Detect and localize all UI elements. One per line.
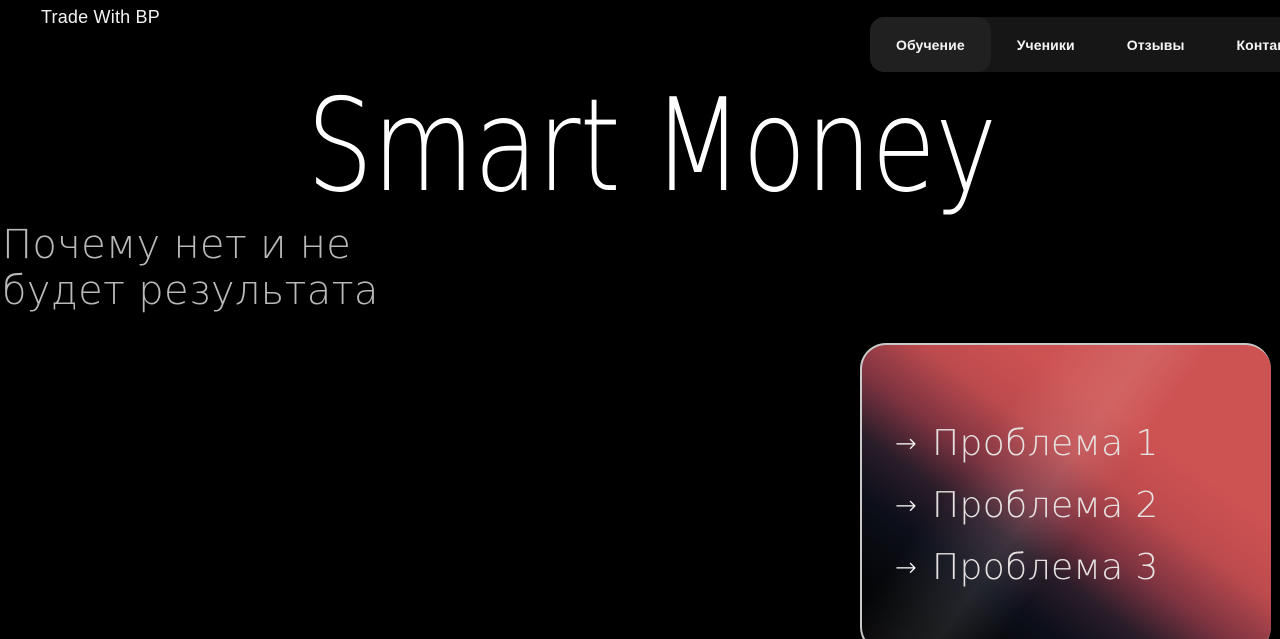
problem-item-2[interactable]: → Проблема 2 (895, 475, 1235, 537)
nav-item-kontakty[interactable]: Контакты (1211, 17, 1280, 72)
problem-card: → Проблема 1 → Проблема 2 → Проблема 3 (860, 343, 1271, 639)
problem-item-label: Проблема 3 (932, 548, 1159, 588)
problem-item-label: Проблема 2 (932, 486, 1159, 526)
nav-item-otzyvy[interactable]: Отзывы (1101, 17, 1211, 72)
brand-logo[interactable]: Trade With BP (41, 6, 160, 28)
arrow-right-icon: → (895, 431, 932, 457)
hero-subtitle-line-1: Почему нет и не (2, 222, 432, 268)
page-title: Smart Money (117, 72, 1185, 222)
problem-item-1[interactable]: → Проблема 1 (895, 413, 1235, 475)
problem-item-label: Проблема 1 (932, 424, 1159, 464)
hero-subtitle: Почему нет и не будет результата (2, 222, 432, 314)
problem-item-3[interactable]: → Проблема 3 (895, 537, 1235, 599)
main-navigation: Обучение Ученики Отзывы Контакты (870, 17, 1280, 72)
problem-list: → Проблема 1 → Проблема 2 → Проблема 3 (895, 413, 1235, 599)
hero-subtitle-line-2: будет результата (2, 268, 432, 314)
nav-item-obuchenie[interactable]: Обучение (870, 17, 991, 72)
page-root: Trade With BP Обучение Ученики Отзывы Ко… (0, 0, 1280, 639)
arrow-right-icon: → (895, 555, 932, 581)
arrow-right-icon: → (895, 493, 932, 519)
nav-item-ucheniki[interactable]: Ученики (991, 17, 1101, 72)
